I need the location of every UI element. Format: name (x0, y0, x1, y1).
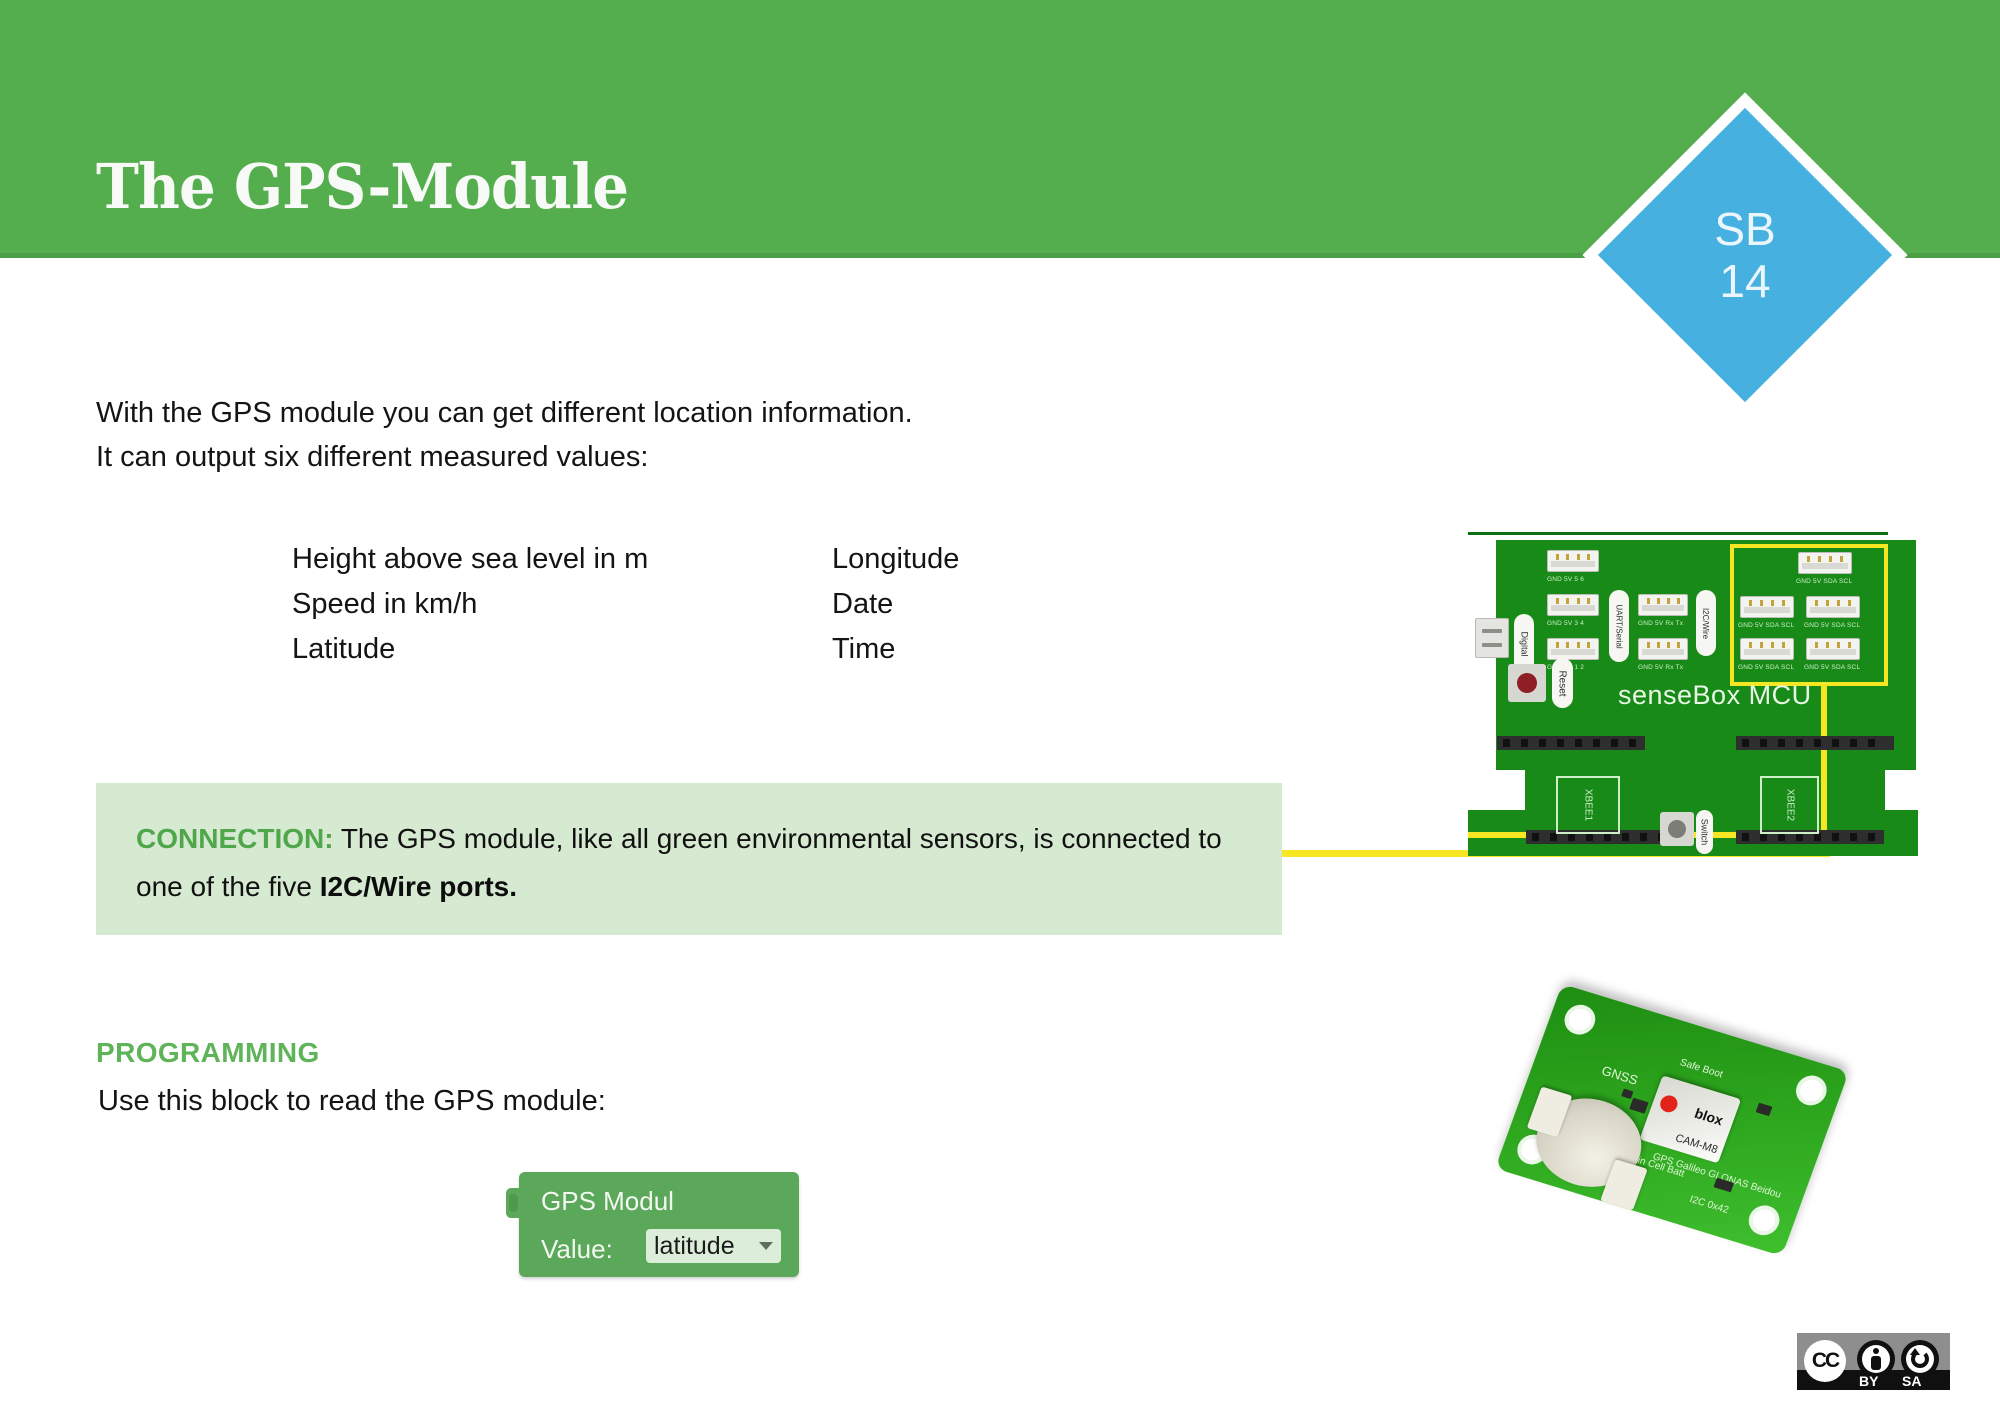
connector-pins (1643, 642, 1683, 648)
connection-text: CONNECTION: The GPS module, like all gre… (136, 815, 1226, 911)
i2c-highlight-wire-vertical (1821, 682, 1827, 838)
switch-label-text: Switch (1700, 819, 1710, 846)
badge-line1: SB (1714, 203, 1775, 255)
mounting-hole (1745, 1202, 1784, 1239)
value-item-speed: Speed in km/h (292, 582, 832, 627)
connector-pins (1643, 598, 1683, 604)
connector-label-uart-2: GND 5V Rx Tx (1638, 664, 1683, 671)
cc-by-body (1871, 1356, 1881, 1370)
connector-digital-2 (1547, 594, 1599, 616)
intro-line-1: With the GPS module you can get differen… (96, 394, 913, 432)
programming-subtitle: Use this block to read the GPS module: (98, 1085, 606, 1118)
usb-micro-icon (1475, 618, 1509, 658)
gps-module-pcb: GPS Galileo GLONAS Beidou GNSS 1225 Coin… (1495, 984, 1849, 1256)
reset-button-cap (1517, 673, 1537, 693)
gps-module-photo: GPS Galileo GLONAS Beidou GNSS 1225 Coin… (1490, 1000, 1870, 1250)
pin-header-top-left (1497, 736, 1645, 750)
connector-label-i2c-1: GND 5V SDA SCL (1796, 578, 1852, 585)
connector-i2c-4 (1740, 638, 1794, 660)
connector-pins (1552, 554, 1594, 560)
ublox-logo-icon (1658, 1093, 1680, 1114)
blockly-block-title: GPS Modul (541, 1186, 674, 1217)
mounting-hole (1560, 1001, 1599, 1038)
cc-icon: CC (1804, 1340, 1846, 1382)
connector-digital-3 (1547, 638, 1599, 660)
cc-sa-label: SA (1902, 1373, 1921, 1389)
connector-pins (1803, 556, 1847, 562)
ublox-brand-label: blox (1692, 1105, 1725, 1128)
silkscreen-i2c-address: I2C 0x42 (1688, 1194, 1730, 1216)
group-label-i2c-text: I2C/Wire (1702, 607, 1711, 638)
group-label-uart: UART/Serial (1609, 590, 1629, 662)
slide-number-badge: SB 14 (1630, 140, 1860, 370)
sensebox-mcu-board-diagram: Digital GND 5V 5 6 GND 5V 3 4 GND 5V 1 2… (1468, 532, 1918, 880)
xbee1-label: XBEE1 (1583, 789, 1594, 821)
switch-button-cap (1668, 820, 1686, 838)
group-label-digital-text: Digital (1519, 631, 1529, 656)
connector-label-i2c-5: GND 5V SDA SCL (1804, 664, 1860, 671)
badge-text: SB 14 (1630, 140, 1860, 370)
mounting-hole (1792, 1072, 1831, 1109)
smd-component (1629, 1098, 1648, 1114)
xbee2-label: XBEE2 (1784, 789, 1795, 821)
value-item-date: Date (832, 582, 959, 627)
cc-by-head (1873, 1348, 1879, 1354)
board-name-silkscreen: senseBox MCU (1618, 680, 1812, 711)
xbee2-footprint: XBEE2 (1760, 776, 1819, 834)
cc-sa-arrow (1910, 1348, 1920, 1355)
connector-label-i2c-4: GND 5V SDA SCL (1738, 664, 1794, 671)
connector-pins (1552, 598, 1594, 604)
cc-icon-text: CC (1812, 1349, 1838, 1373)
connector-i2c-5 (1806, 638, 1860, 660)
reset-label: Reset (1552, 658, 1573, 708)
connector-label-i2c-2: GND 5V SDA SCL (1738, 622, 1794, 629)
cc-sa-sharealike-glyph (1906, 1345, 1934, 1373)
blockly-value-label: Value: (541, 1234, 613, 1265)
pin-header-top-right (1736, 736, 1894, 750)
switch-button[interactable] (1660, 812, 1694, 846)
pcb-right-ear (1880, 810, 1918, 856)
value-item-latitude: Latitude (292, 627, 832, 672)
group-label-i2c: I2C/Wire (1696, 590, 1716, 656)
connector-label-digital-1: GND 5V 5 6 (1547, 576, 1584, 583)
blockly-dropdown-selected: latitude (654, 1232, 755, 1261)
badge-line2: 14 (1719, 255, 1770, 307)
connector-label-i2c-3: GND 5V SDA SCL (1804, 622, 1860, 629)
value-item-time: Time (832, 627, 959, 672)
connection-ports-emphasis: I2C/Wire ports. (320, 871, 517, 902)
connector-digital-1 (1547, 550, 1599, 572)
value-item-height: Height above sea level in m (292, 537, 832, 582)
connector-label-uart-1: GND 5V Rx Tx (1638, 620, 1683, 627)
cc-by-label: BY (1859, 1373, 1878, 1389)
group-label-uart-text: UART/Serial (1615, 604, 1624, 648)
value-item-longitude: Longitude (832, 537, 959, 582)
silkscreen-safe-boot: Safe Boot (1678, 1057, 1724, 1080)
connector-uart-1 (1638, 594, 1688, 616)
blockly-value-dropdown[interactable]: latitude (646, 1229, 781, 1263)
smd-component (1621, 1089, 1633, 1099)
connector-label-digital-2: GND 5V 3 4 (1547, 620, 1584, 627)
reset-button[interactable] (1508, 664, 1546, 702)
switch-label: Switch (1696, 810, 1713, 854)
blockly-output-notch (506, 1188, 520, 1218)
connector-pins (1811, 600, 1855, 606)
connection-callout: CONNECTION: The GPS module, like all gre… (96, 783, 1282, 935)
blockly-gps-block[interactable]: GPS Modul Value: latitude (519, 1172, 799, 1277)
connector-uart-2 (1638, 638, 1688, 660)
chevron-down-icon (759, 1242, 773, 1250)
measured-values-list: Height above sea level in m Longitude Sp… (292, 537, 959, 672)
xbee1-footprint: XBEE1 (1556, 776, 1620, 834)
chip-part-label: CAM-M8 (1674, 1132, 1720, 1156)
connector-i2c-3 (1806, 596, 1860, 618)
silkscreen-gnss: GNSS (1600, 1063, 1640, 1088)
connector-pins (1745, 600, 1789, 606)
connector-pins (1552, 642, 1594, 648)
pcb-top-edge (1468, 532, 1888, 535)
connector-i2c-1 (1798, 552, 1852, 574)
connector-pins (1811, 642, 1855, 648)
connector-pins (1745, 642, 1789, 648)
reset-label-text: Reset (1557, 670, 1568, 696)
cc-by-person-glyph (1862, 1345, 1890, 1373)
cc-license-badge: CC BY SA (1797, 1333, 1950, 1390)
programming-heading: PROGRAMMING (96, 1037, 320, 1069)
ublox-cam-m8-chip: CAM-M8 blox (1639, 1075, 1741, 1163)
connection-label: CONNECTION: (136, 823, 334, 854)
connector-i2c-2 (1740, 596, 1794, 618)
page-title: The GPS-Module (96, 150, 628, 223)
smd-component (1756, 1103, 1773, 1117)
intro-line-2: It can output six different measured val… (96, 438, 648, 476)
